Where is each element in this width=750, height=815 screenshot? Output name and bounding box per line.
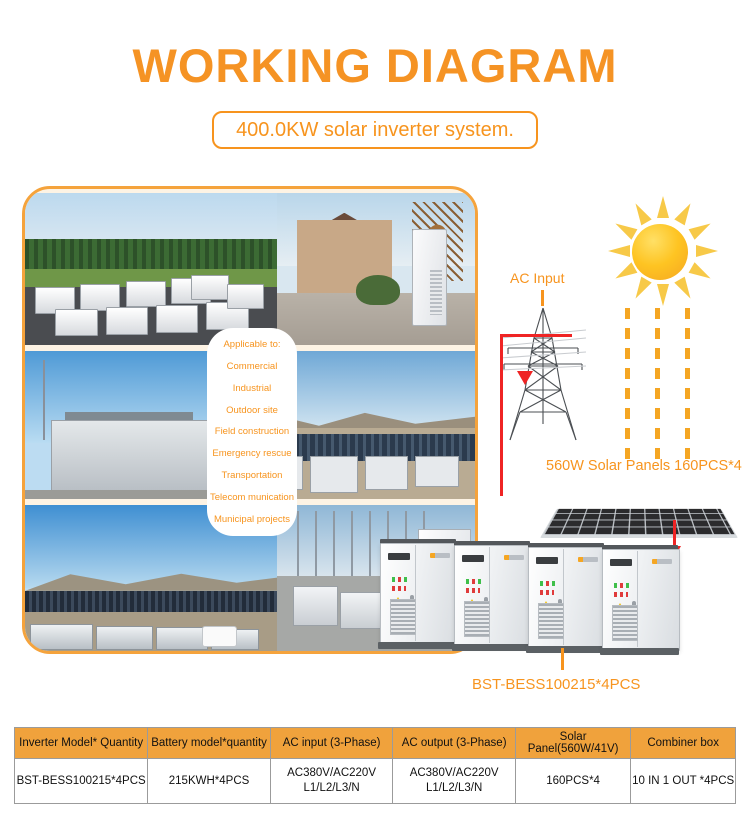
cabinet-led-row <box>614 583 632 588</box>
photo-battery-container-farm <box>25 193 277 345</box>
table-header-ac-input: AC input (3-Phase) <box>270 728 393 759</box>
collage-row-1 <box>25 193 475 345</box>
cell-ac-input: AC380V/AC220V L1/L2/L3/N <box>270 759 393 804</box>
applicable-to-panel: Applicable to: Commercial Industrial Out… <box>207 328 297 536</box>
cabinet-brand-icon <box>652 559 672 564</box>
bess-cabinet-group <box>380 533 680 653</box>
ac-wire-top <box>500 334 572 337</box>
bess-cabinet-4 <box>602 543 678 655</box>
subtitle-badge: 400.0KW solar inverter system. <box>212 111 538 149</box>
cabinet-brand-icon <box>430 553 450 558</box>
cabinet-led-row-2 <box>466 588 480 593</box>
page-title: WORKING DIAGRAM <box>0 38 750 93</box>
table-header-solar-panel: Solar Panel(560W/41V) <box>515 728 630 759</box>
cabinet-vent <box>612 605 638 641</box>
sun-beam-left <box>625 308 630 468</box>
applicable-item-commercial: Commercial <box>227 361 278 372</box>
cabinet-vent <box>390 599 416 635</box>
working-diagram-page: WORKING DIAGRAM 400.0KW solar inverter s… <box>0 0 750 815</box>
bess-cabinet-2 <box>454 539 530 651</box>
solar-panel-label: 560W Solar Panels 160PCS*4 <box>546 458 742 474</box>
sun-icon <box>602 196 718 306</box>
cabinet-brand-icon <box>504 555 524 560</box>
cabinet-led-row <box>540 581 558 586</box>
cabinet-led-row-2 <box>540 590 554 595</box>
transmission-tower-icon <box>500 304 586 444</box>
solar-panel-icon <box>540 482 738 538</box>
cell-combiner-box: 10 IN 1 OUT *4PCS <box>631 759 736 804</box>
applicable-item-outdoor-site: Outdoor site <box>226 405 278 416</box>
cabinet-led-row <box>392 577 410 582</box>
cell-battery-model: 215KWH*4PCS <box>148 759 271 804</box>
cabinet-logo-icon <box>536 557 558 564</box>
applicable-item-telecom: Telecom munication <box>210 492 294 503</box>
bess-cabinet-3 <box>528 541 604 653</box>
table-row: BST-BESS100215*4PCS 215KWH*4PCS AC380V/A… <box>15 759 736 804</box>
cabinet-vent <box>464 601 490 637</box>
cabinet-brand-icon <box>578 557 598 562</box>
cabinet-led-row <box>466 579 484 584</box>
cell-inverter-model: BST-BESS100215*4PCS <box>15 759 148 804</box>
cell-ac-output: AC380V/AC220V L1/L2/L3/N <box>393 759 516 804</box>
cabinet-logo-icon <box>388 553 410 560</box>
table-header-combiner-box: Combiner box <box>631 728 736 759</box>
applicable-item-municipal-projects: Municipal projects <box>214 514 290 525</box>
cabinet-vent <box>538 603 564 639</box>
ac-wire-vertical <box>500 334 503 496</box>
bess-label: BST-BESS100215*4PCS <box>472 676 640 693</box>
bess-label-tick <box>561 648 564 670</box>
table-header-battery-model: Battery model*quantity <box>148 728 271 759</box>
applicable-item-emergency-rescue: Emergency rescue <box>212 448 291 459</box>
applicable-heading: Applicable to: <box>223 339 280 350</box>
subtitle-text: 400.0KW solar inverter system. <box>236 119 514 142</box>
cabinet-led-row-2 <box>392 586 406 591</box>
photo-residential-cabinet <box>277 193 475 345</box>
ac-input-label: AC Input <box>510 270 564 286</box>
table-header-ac-output: AC output (3-Phase) <box>393 728 516 759</box>
ac-wire-arrow <box>517 371 533 385</box>
bess-cabinet-1 <box>380 537 456 649</box>
cabinet-led-row-2 <box>614 592 628 597</box>
table-header-inverter-model: Inverter Model* Quantity <box>15 728 148 759</box>
sun-beam-center <box>655 308 660 468</box>
cabinet-logo-icon <box>462 555 484 562</box>
applicable-item-transportation: Transportation <box>222 470 283 481</box>
applicable-item-industrial: Industrial <box>233 383 272 394</box>
sun-beam-right <box>685 308 690 468</box>
cabinet-logo-icon <box>610 559 632 566</box>
cell-solar-panel: 160PCS*4 <box>515 759 630 804</box>
table-header-row: Inverter Model* Quantity Battery model*q… <box>15 728 736 759</box>
applicable-item-field-construction: Field construction <box>215 426 289 437</box>
spec-table: Inverter Model* Quantity Battery model*q… <box>14 727 736 804</box>
